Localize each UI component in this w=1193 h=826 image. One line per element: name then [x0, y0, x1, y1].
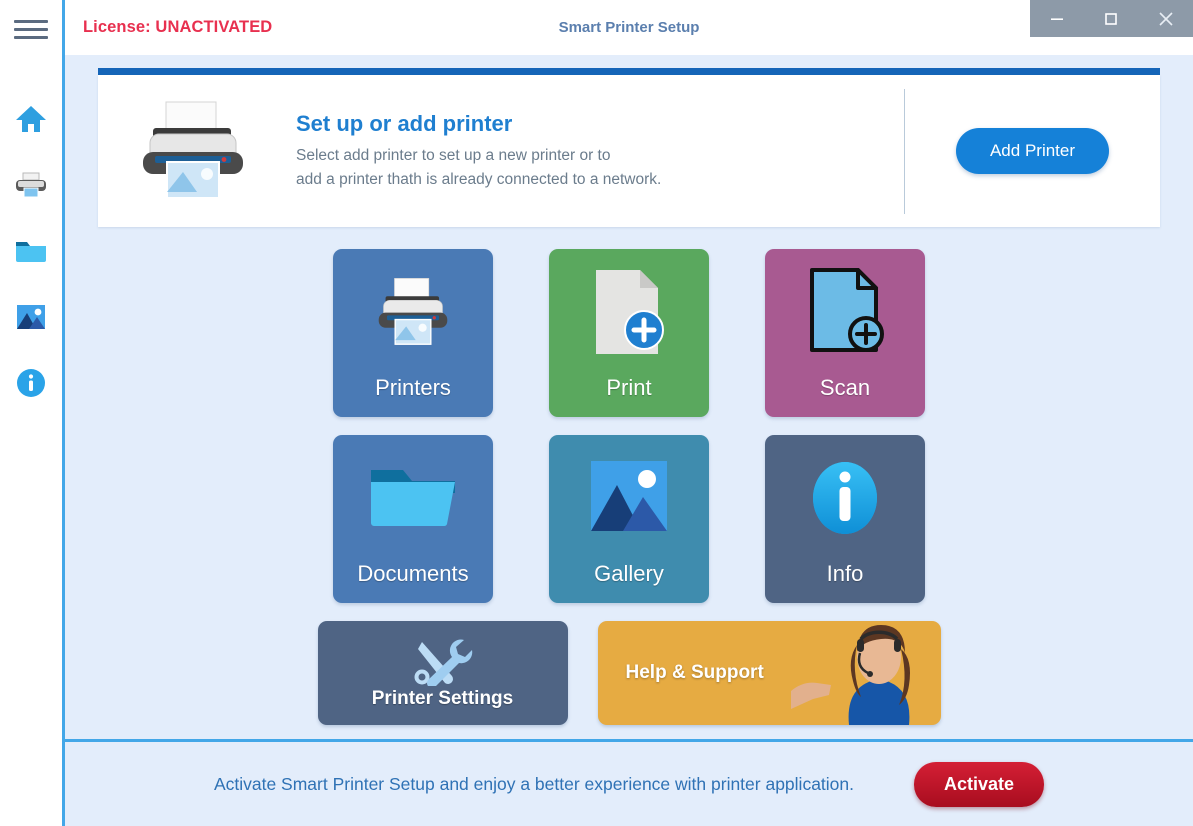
tile-graphic [549, 249, 709, 375]
banner-body: Set up or add printer Select add printer… [98, 75, 1160, 227]
rail-item-printers[interactable] [14, 168, 48, 202]
footer: Activate Smart Printer Setup and enjoy a… [65, 742, 1193, 826]
info-icon [16, 368, 46, 398]
tile-graphic [333, 435, 493, 561]
minimize-icon [1049, 11, 1065, 27]
tile-label: Printer Settings [372, 688, 513, 710]
rail-item-info[interactable] [14, 366, 48, 400]
tile-row-3: Printer Settings Help & Support [318, 621, 941, 725]
left-rail [0, 0, 62, 826]
app-window: License: UNACTIVATED Smart Printer Setup [62, 0, 1193, 826]
footer-message: Activate Smart Printer Setup and enjoy a… [214, 774, 854, 795]
info-icon [802, 453, 888, 543]
tile-label: Print [606, 375, 651, 417]
scan-add-icon [802, 266, 888, 358]
tile-grid: Printers Print [65, 249, 1193, 725]
tile-info[interactable]: Info [765, 435, 925, 603]
rail-item-documents[interactable] [14, 234, 48, 268]
folder-icon [15, 238, 47, 264]
tile-label: Info [827, 561, 864, 603]
tile-label: Gallery [594, 561, 664, 603]
content-area: Set up or add printer Select add printer… [65, 55, 1193, 826]
banner-printer-illustration [98, 96, 288, 206]
add-printer-area: Add Printer [905, 128, 1160, 174]
tile-label: Scan [820, 375, 870, 417]
window-controls [1030, 0, 1193, 37]
tools-icon [412, 636, 474, 686]
minimize-button[interactable] [1034, 0, 1080, 37]
tile-row-2: Documents Gallery [333, 435, 925, 603]
tile-graphic [765, 435, 925, 561]
hamburger-icon[interactable] [14, 14, 48, 44]
tile-printer-settings[interactable]: Printer Settings [318, 621, 568, 725]
tile-scan[interactable]: Scan [765, 249, 925, 417]
printer-icon [365, 274, 461, 350]
close-icon [1157, 10, 1175, 28]
tile-graphic [549, 435, 709, 561]
banner-text: Set up or add printer Select add printer… [288, 111, 904, 191]
tile-print[interactable]: Print [549, 249, 709, 417]
close-button[interactable] [1143, 0, 1189, 37]
title-bar: License: UNACTIVATED Smart Printer Setup [65, 0, 1193, 55]
activate-button[interactable]: Activate [914, 762, 1044, 807]
support-agent-icon [761, 621, 941, 725]
document-add-icon [586, 266, 672, 358]
tile-label: Documents [357, 561, 468, 603]
printer-icon [14, 172, 48, 198]
hamburger-bar [14, 28, 48, 31]
add-printer-button[interactable]: Add Printer [956, 128, 1109, 174]
tile-printers[interactable]: Printers [333, 249, 493, 417]
banner-line-2: add a printer thath is already connected… [296, 168, 904, 191]
banner-accent-bar [98, 68, 1160, 75]
tile-gallery[interactable]: Gallery [549, 435, 709, 603]
tile-row-1: Printers Print [333, 249, 925, 417]
tile-label: Help & Support [626, 662, 764, 684]
banner-line-1: Select add printer to set up a new print… [296, 144, 904, 167]
banner-heading: Set up or add printer [296, 111, 904, 137]
home-icon [15, 104, 47, 134]
rail-item-home[interactable] [14, 102, 48, 136]
tile-label: Printers [375, 375, 451, 417]
setup-banner: Set up or add printer Select add printer… [98, 68, 1160, 227]
maximize-button[interactable] [1088, 0, 1134, 37]
tile-documents[interactable]: Documents [333, 435, 493, 603]
tile-graphic [333, 249, 493, 375]
maximize-icon [1103, 11, 1119, 27]
tile-help-support[interactable]: Help & Support [598, 621, 941, 725]
printer-illustration-icon [123, 96, 263, 206]
hamburger-bar [14, 20, 48, 23]
image-icon [589, 459, 669, 537]
folder-icon [367, 460, 459, 536]
rail-icon-list [14, 102, 48, 400]
hamburger-bar [14, 36, 48, 39]
rail-item-gallery[interactable] [14, 300, 48, 334]
image-icon [16, 303, 46, 331]
license-status: License: UNACTIVATED [83, 18, 272, 37]
tile-graphic [765, 249, 925, 375]
